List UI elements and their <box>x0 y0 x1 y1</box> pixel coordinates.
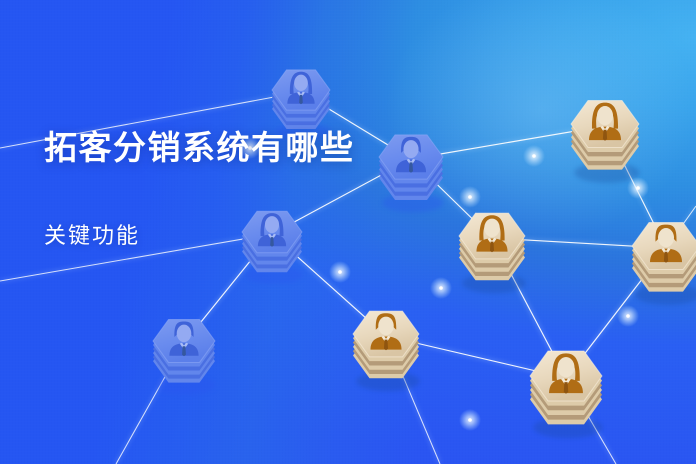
page-subtitle: 关键功能 <box>44 222 140 251</box>
network-node-female <box>530 351 603 438</box>
network-node-female <box>242 211 303 284</box>
page-title: 拓客分销系统有哪些 <box>44 128 355 168</box>
network-node-male <box>379 135 444 213</box>
network-nodes <box>153 70 696 438</box>
network-node-male <box>632 222 696 304</box>
network-node-male <box>353 311 420 391</box>
network-node-male <box>153 320 216 395</box>
network-node-female <box>571 100 640 182</box>
network-node-female <box>459 213 526 293</box>
banner-image: 拓客分销系统有哪些 关键功能 <box>0 0 696 464</box>
